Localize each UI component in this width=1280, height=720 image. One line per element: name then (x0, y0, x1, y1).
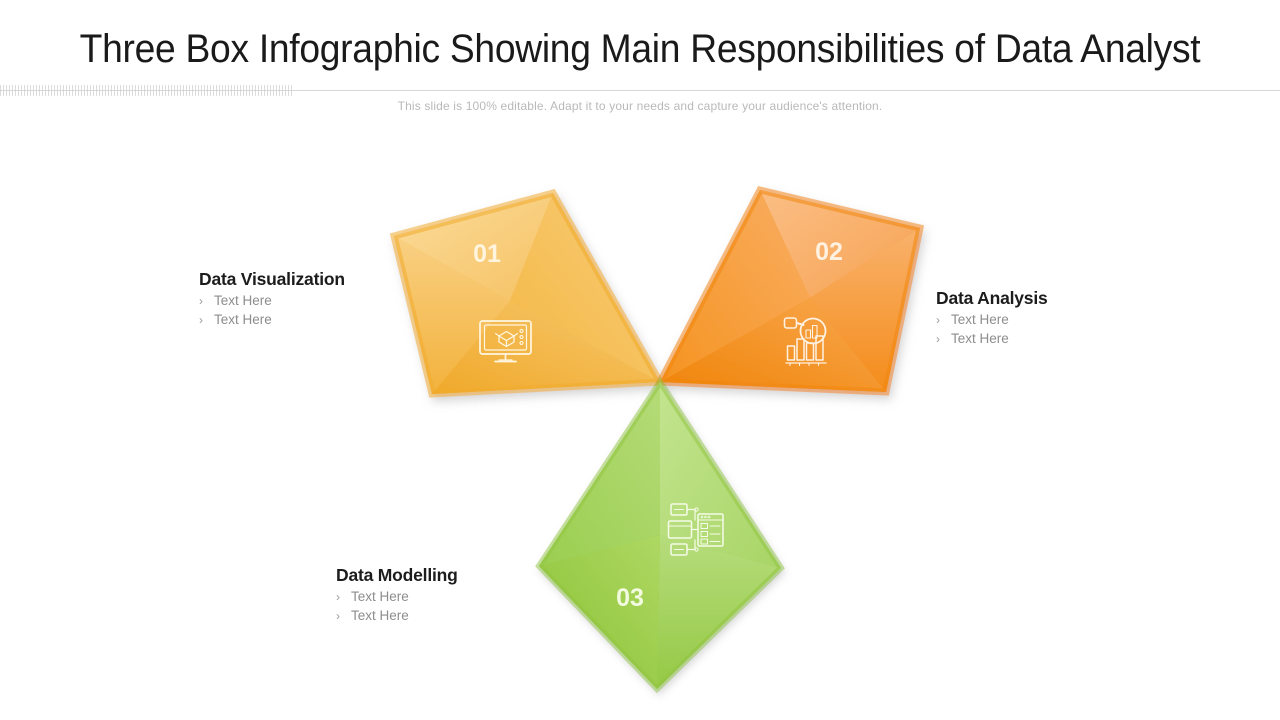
label-title-data-analysis: Data Analysis (936, 288, 1048, 309)
chevron-right-icon: › (936, 330, 951, 348)
chevron-right-icon: › (936, 311, 951, 329)
gem-number-01: 01 (473, 240, 501, 268)
gem-shape-03[interactable] (539, 382, 781, 689)
bullet-text: Text Here (951, 330, 1009, 348)
diagram-svg: 01 02 (0, 0, 1280, 720)
bullet-text: Text Here (214, 292, 272, 310)
chevron-right-icon: › (199, 292, 214, 310)
bullet-item: › Text Here (336, 588, 458, 606)
chevron-right-icon: › (199, 311, 214, 329)
chevron-right-icon: › (336, 607, 351, 625)
bullet-text: Text Here (351, 588, 409, 606)
label-block-data-visualization: Data Visualization › Text Here › Text He… (199, 269, 345, 329)
chevron-right-icon: › (336, 588, 351, 606)
gem-shape-02[interactable] (660, 190, 920, 392)
bullet-item: › Text Here (199, 292, 345, 310)
infographic-diagram: 01 02 (0, 0, 1280, 720)
bullet-text: Text Here (951, 311, 1009, 329)
label-block-data-analysis: Data Analysis › Text Here › Text Here (936, 288, 1048, 348)
gem-shape-01[interactable] (394, 193, 660, 394)
gem-number-03: 03 (616, 584, 644, 612)
label-block-data-modelling: Data Modelling › Text Here › Text Here (336, 565, 458, 625)
gem-number-02: 02 (815, 238, 843, 266)
bullet-item: › Text Here (199, 311, 345, 329)
label-title-data-modelling: Data Modelling (336, 565, 458, 586)
bullet-item: › Text Here (936, 330, 1048, 348)
bullet-item: › Text Here (336, 607, 458, 625)
bullet-text: Text Here (214, 311, 272, 329)
bullet-item: › Text Here (936, 311, 1048, 329)
bullet-text: Text Here (351, 607, 409, 625)
label-title-data-visualization: Data Visualization (199, 269, 345, 290)
